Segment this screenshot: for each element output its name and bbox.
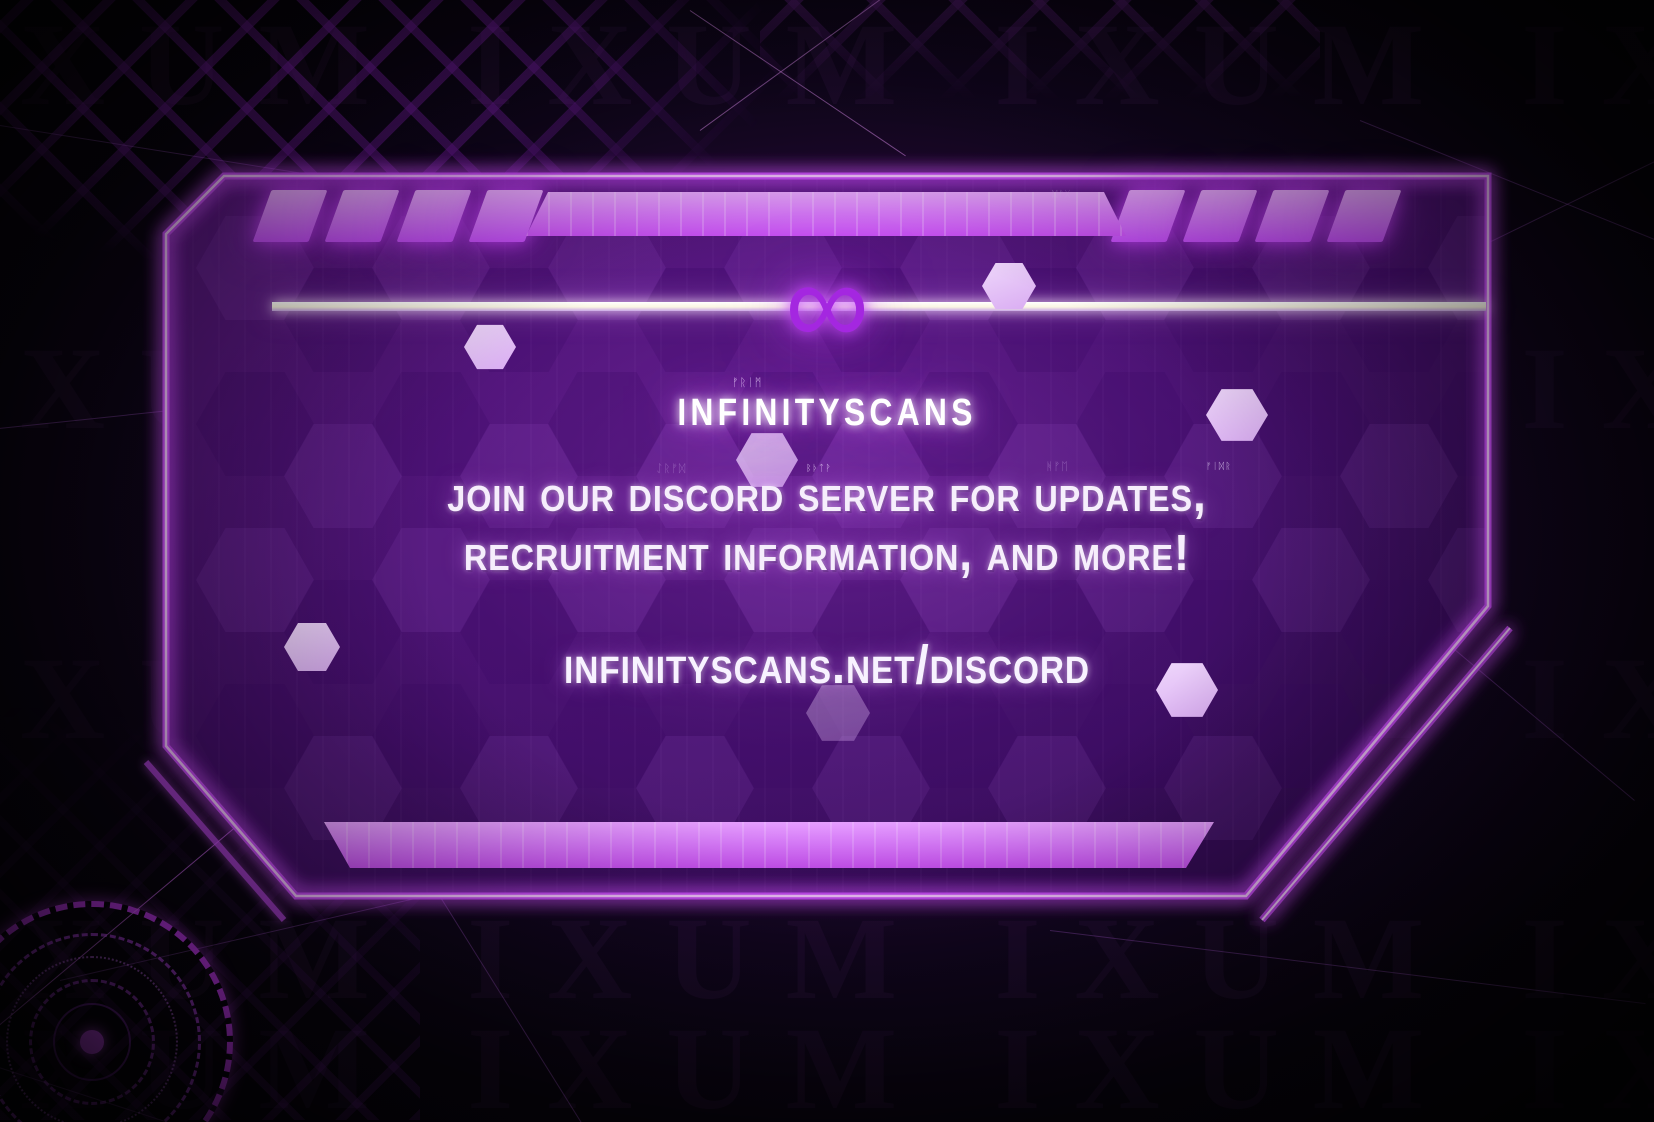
slash-decoration-left [262,190,534,242]
hud-panel: ∞ ᚠᚱᛁᛗ ᛇᚱᚠᛞ ᛒᚦᛏᚹ ᚻᚠᛖ ᚠᛁᛞᚱ ᛞᚠᚷ INFINITYSC… [166,176,1488,896]
tagline-line-2: recruitment information, and more! [232,523,1422,582]
top-accent-bar [526,192,1126,236]
radar-reticle-icon [0,892,242,1122]
divider-line [272,302,1486,311]
tagline-line-1: Join our discord server for updates, [232,464,1422,523]
panel-content: INFINITYSCANS Join our discord server fo… [166,376,1488,696]
infinity-logo-icon: ∞ [785,262,869,347]
bottom-accent-bar [324,822,1214,868]
slash-decoration-right [1120,190,1392,242]
bottom-bar-streaks [324,822,1214,868]
banner-canvas: IXUM IXUM IXUM IXUM IXUM IXUM IXUM IXUM … [0,0,1654,1122]
top-bar-streaks [526,192,1126,236]
tagline-text: Join our discord server for updates, rec… [232,464,1422,582]
diagonal-lattice-pattern [760,0,1320,140]
discord-url-text: infinityscans.net/discord [245,634,1408,696]
brand-title: INFINITYSCANS [272,376,1382,438]
hud-glyph-cluster: ᛞᚠᚷ [1052,190,1071,200]
